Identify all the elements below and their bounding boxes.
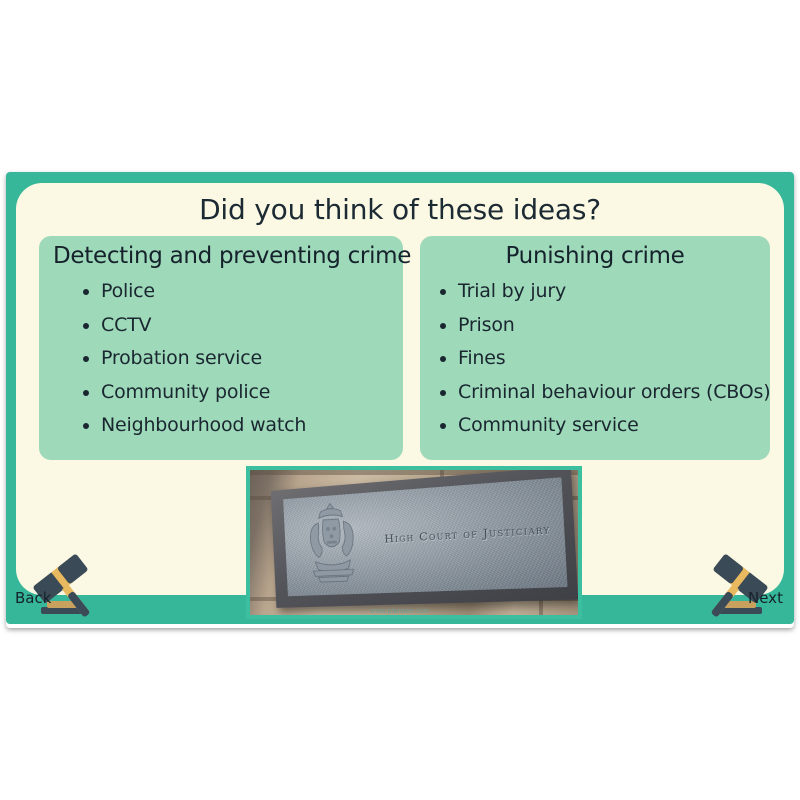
list-item: Community police — [39, 376, 403, 410]
royal-coat-of-arms-icon — [295, 496, 369, 593]
list-item: Fines — [420, 342, 770, 376]
presentation-slide: Did you think of these ideas? Detecting … — [6, 172, 794, 624]
list-item: Criminal behaviour orders (CBOs) — [420, 376, 770, 410]
column-heading-right: Punishing crime — [420, 236, 770, 269]
list-item: Neighbourhood watch — [39, 409, 403, 443]
column-detecting-preventing-crime: Detecting and preventing crime Police CC… — [39, 236, 403, 460]
court-plaque: High Court of Justiciary — [270, 470, 578, 607]
next-button-label: Next — [748, 589, 783, 607]
footer-watermark: www.planbee.com — [6, 608, 794, 615]
photo-frame: High Court of Justiciary — [246, 466, 582, 619]
court-plaque-photo: High Court of Justiciary — [250, 470, 578, 615]
column-heading-left: Detecting and preventing crime — [39, 236, 403, 269]
gavel-icon — [11, 547, 103, 625]
page-title: Did you think of these ideas? — [16, 193, 784, 226]
column-punishing-crime: Punishing crime Trial by jury Prison Fin… — [420, 236, 770, 460]
next-button[interactable]: Next — [698, 547, 790, 625]
back-button[interactable]: Back — [11, 547, 103, 625]
list-item: CCTV — [39, 309, 403, 343]
gavel-icon — [698, 547, 790, 625]
list-item: Prison — [420, 309, 770, 343]
back-button-label: Back — [15, 589, 51, 607]
list-item: Trial by jury — [420, 275, 770, 309]
list-detecting-preventing-crime: Police CCTV Probation service Community … — [39, 269, 403, 443]
slide-content-panel: Did you think of these ideas? Detecting … — [16, 183, 784, 595]
list-item: Probation service — [39, 342, 403, 376]
list-punishing-crime: Trial by jury Prison Fines Criminal beha… — [420, 269, 770, 443]
list-item: Community service — [420, 409, 770, 443]
list-item: Police — [39, 275, 403, 309]
